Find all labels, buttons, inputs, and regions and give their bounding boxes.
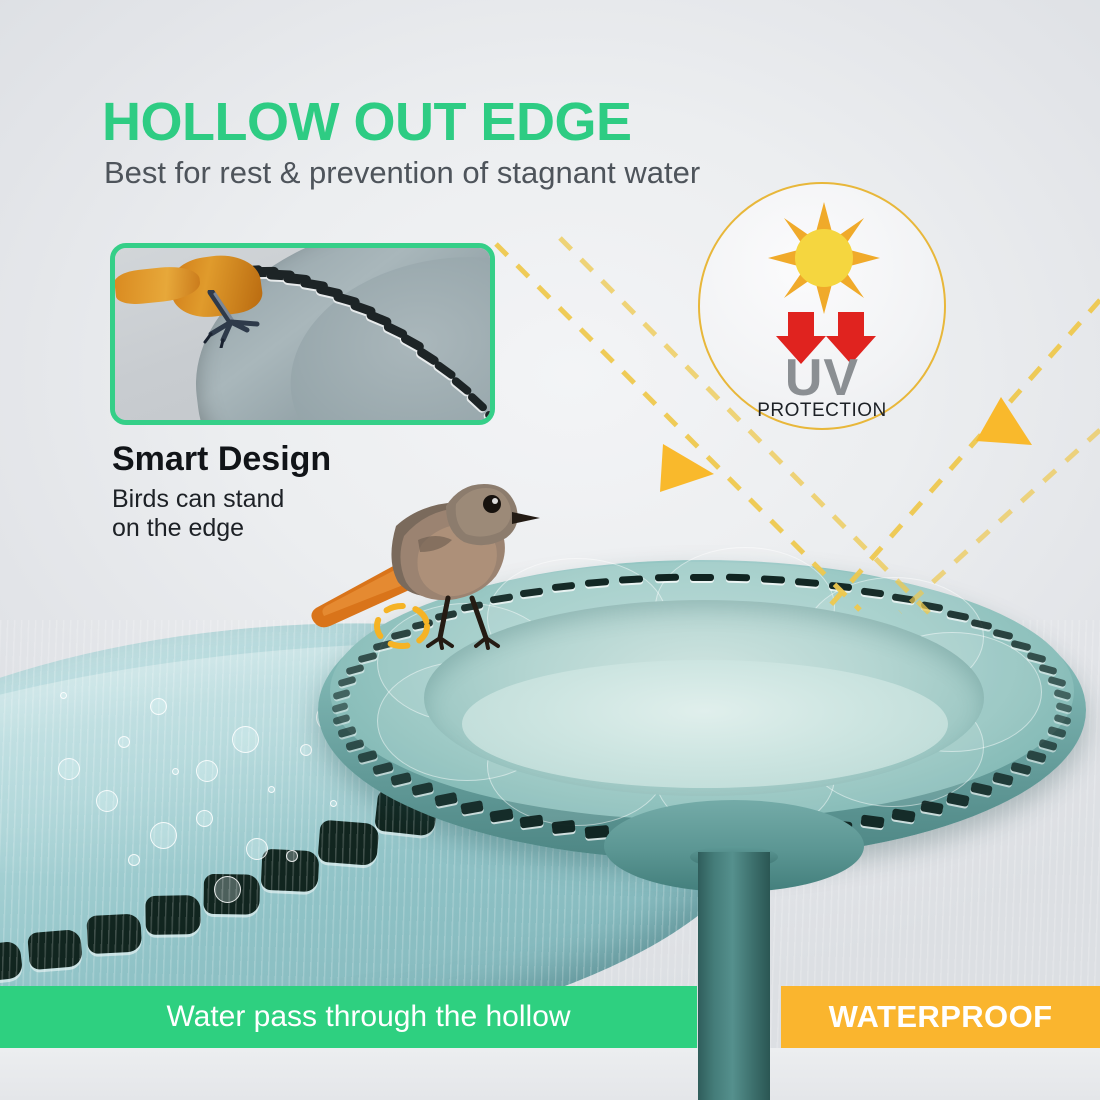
smart-design-line-1: Birds can stand [112, 485, 284, 514]
smart-design-inset-photo [110, 243, 495, 425]
page-subtitle: Best for rest & prevention of stagnant w… [104, 155, 700, 191]
bottom-strip [0, 1048, 1100, 1100]
banner-waterproof-label: WATERPROOF [829, 999, 1053, 1035]
foot-grip-highlight-ring [372, 600, 432, 652]
banner-water-pass-label: Water pass through the hollow [166, 1000, 570, 1034]
uv-title: UV [700, 352, 944, 404]
inset-bird-foot [201, 290, 271, 348]
birdbath-pole-foreground [698, 986, 770, 1100]
infographic-canvas: HOLLOW OUT EDGE Best for rest & preventi… [0, 0, 1100, 1100]
banner-water-pass: Water pass through the hollow [0, 986, 697, 1048]
smart-design-line-2: on the edge [112, 514, 284, 543]
page-title: HOLLOW OUT EDGE [102, 95, 631, 149]
uv-subtitle: PROTECTION [700, 400, 944, 422]
smart-design-title: Smart Design [112, 440, 331, 479]
banner-waterproof: WATERPROOF [781, 986, 1100, 1048]
smart-design-description: Birds can stand on the edge [112, 485, 284, 543]
sun-icon [768, 202, 880, 314]
uv-protection-badge: UV PROTECTION [698, 182, 946, 430]
inset-photo-content [115, 248, 490, 420]
